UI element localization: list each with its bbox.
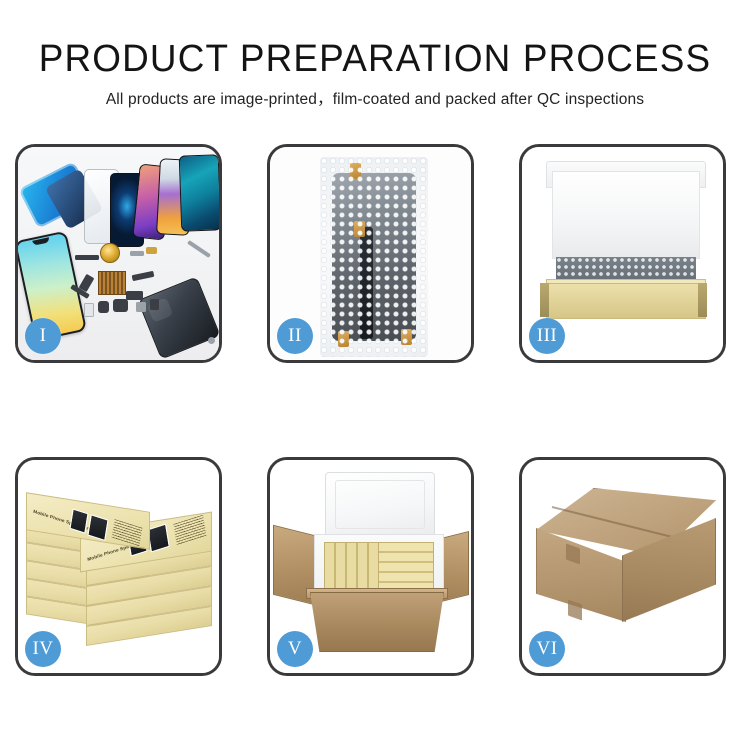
- box-side-right: [698, 283, 707, 317]
- kraft-box-stack-icon: Mobile Phone Spare Parts Mobile Phone Sp…: [24, 478, 219, 658]
- phone-print-icon: [147, 523, 170, 552]
- spare-part-module: [126, 291, 143, 300]
- step-badge-2: II: [277, 318, 313, 354]
- page-title: PRODUCT PREPARATION PROCESS: [11, 38, 739, 80]
- product-preparation-page: PRODUCT PREPARATION PROCESS All products…: [0, 0, 750, 750]
- wireless-charging-coil-icon: [100, 243, 120, 263]
- process-step-card-1[interactable]: I Mobile phone screens, protective films…: [15, 144, 222, 363]
- spare-part-button: [136, 302, 146, 312]
- spare-part-camera: [113, 299, 128, 312]
- kraft-box-tray-icon: [546, 283, 706, 319]
- styrofoam-lid-icon: [325, 472, 435, 540]
- phone-teal-icon: [179, 154, 219, 231]
- carton-front-panel-icon: [310, 592, 444, 652]
- spare-part-vibrator: [150, 299, 159, 310]
- process-step-card-3[interactable]: III Open kraft inner box with white foam…: [519, 144, 726, 363]
- spec-text-lines: [112, 519, 143, 547]
- process-step-card-4[interactable]: Mobile Phone Spare Parts Mobile Phone Sp…: [15, 457, 222, 676]
- phone-print-icon: [87, 514, 108, 541]
- step-badge-1: I: [25, 318, 61, 354]
- page-header: PRODUCT PREPARATION PROCESS All products…: [0, 38, 750, 109]
- process-step-card-5[interactable]: V Open shipping carton with styrofoam co…: [267, 457, 474, 676]
- page-subtitle: All products are image-printed，film-coat…: [0, 87, 750, 109]
- kraft-boxes-inside-stacked-icon: [378, 542, 434, 589]
- process-step-card-2[interactable]: II Single LCD screen assembly sealed in …: [267, 144, 474, 363]
- process-step-card-6[interactable]: VI Sealed brown corrugated shipping cart…: [519, 457, 726, 676]
- spare-part-strip: [75, 255, 99, 260]
- step-badge-4: IV: [25, 631, 61, 667]
- bubble-wrap-bag-icon: [320, 157, 428, 357]
- phone-print-icon: [69, 508, 88, 533]
- spare-part-gold-bracket: [146, 247, 157, 254]
- spare-part-sim-tray: [84, 303, 94, 317]
- step-badge-5: V: [277, 631, 313, 667]
- screw-icon: [208, 337, 215, 344]
- spare-part-connector: [130, 251, 144, 256]
- step-badge-6: VI: [529, 631, 565, 667]
- chip-array-icon: [98, 271, 126, 295]
- bubble-texture: [320, 157, 428, 357]
- foam-sheet-icon: [552, 171, 700, 259]
- box-side-left: [540, 283, 549, 317]
- step-badge-3: III: [529, 318, 565, 354]
- spec-text-lines: [173, 515, 206, 546]
- spare-part-speaker: [98, 301, 109, 313]
- process-steps-grid: I Mobile phone screens, protective films…: [15, 144, 735, 684]
